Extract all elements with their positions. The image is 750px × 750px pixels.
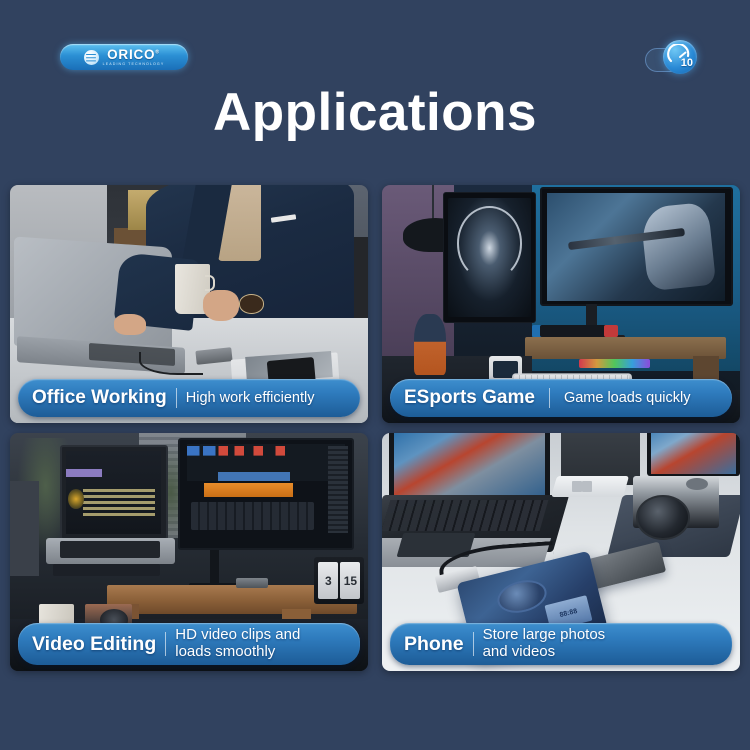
flip-clock: 3 15 — [314, 557, 364, 605]
logo-tagline: LEADING TECHNOLOGY — [103, 63, 165, 67]
caption-title: Phone — [404, 633, 464, 656]
flip-clock-minute: 15 — [340, 562, 360, 598]
applications-grid: Office Working High work efficiently ESp — [10, 185, 740, 675]
badge-circle: 10 — [663, 40, 697, 74]
caption-description-line1: Store large photos — [483, 626, 606, 643]
application-card-office-working[interactable]: Office Working High work efficiently — [10, 185, 368, 423]
page-header: ORICO® LEADING TECHNOLOGY 10 Application… — [0, 0, 750, 175]
speed-badge: 10 — [645, 38, 705, 78]
caption-office-working: Office Working High work efficiently — [18, 379, 360, 417]
caption-description-line2: and videos — [483, 643, 556, 660]
caption-esports-game: ESports Game Game loads quickly — [390, 379, 732, 417]
application-card-esports-game[interactable]: ESports Game Game loads quickly — [382, 185, 740, 423]
caption-description-line2: loads smoothly — [175, 643, 275, 660]
caption-video-editing: Video Editing HD video clips and loads s… — [18, 623, 360, 665]
application-card-video-editing[interactable]: 3 15 Video Editing HD video clips and lo… — [10, 433, 368, 671]
caption-divider — [176, 388, 177, 408]
caption-description: Game loads quickly — [564, 390, 691, 406]
speed-value-label: 10 — [681, 58, 693, 69]
page-title: Applications — [0, 82, 750, 143]
caption-divider — [549, 388, 550, 408]
flip-clock-hour: 3 — [318, 562, 338, 598]
orico-logo: ORICO® LEADING TECHNOLOGY — [60, 44, 188, 70]
orico-s-mark-icon — [84, 50, 99, 65]
caption-divider — [473, 632, 474, 656]
caption-description-line1: HD video clips and — [175, 626, 300, 643]
logo-text-block: ORICO® LEADING TECHNOLOGY — [103, 48, 165, 67]
speed-gauge-icon: 10 — [667, 44, 693, 70]
application-card-phone[interactable]: 88:88 Phone Store large photos and video… — [382, 433, 740, 671]
caption-phone: Phone Store large photos and videos — [390, 623, 732, 665]
logo-wordmark: ORICO® — [107, 48, 160, 62]
caption-description: High work efficiently — [186, 390, 315, 406]
logo-registered-mark: ® — [155, 49, 159, 55]
caption-title: Video Editing — [32, 633, 156, 656]
caption-description: Store large photos and videos — [483, 627, 606, 661]
caption-title: ESports Game — [404, 387, 535, 409]
caption-title: Office Working — [32, 387, 167, 409]
caption-description: HD video clips and loads smoothly — [175, 627, 300, 661]
caption-divider — [165, 632, 166, 656]
